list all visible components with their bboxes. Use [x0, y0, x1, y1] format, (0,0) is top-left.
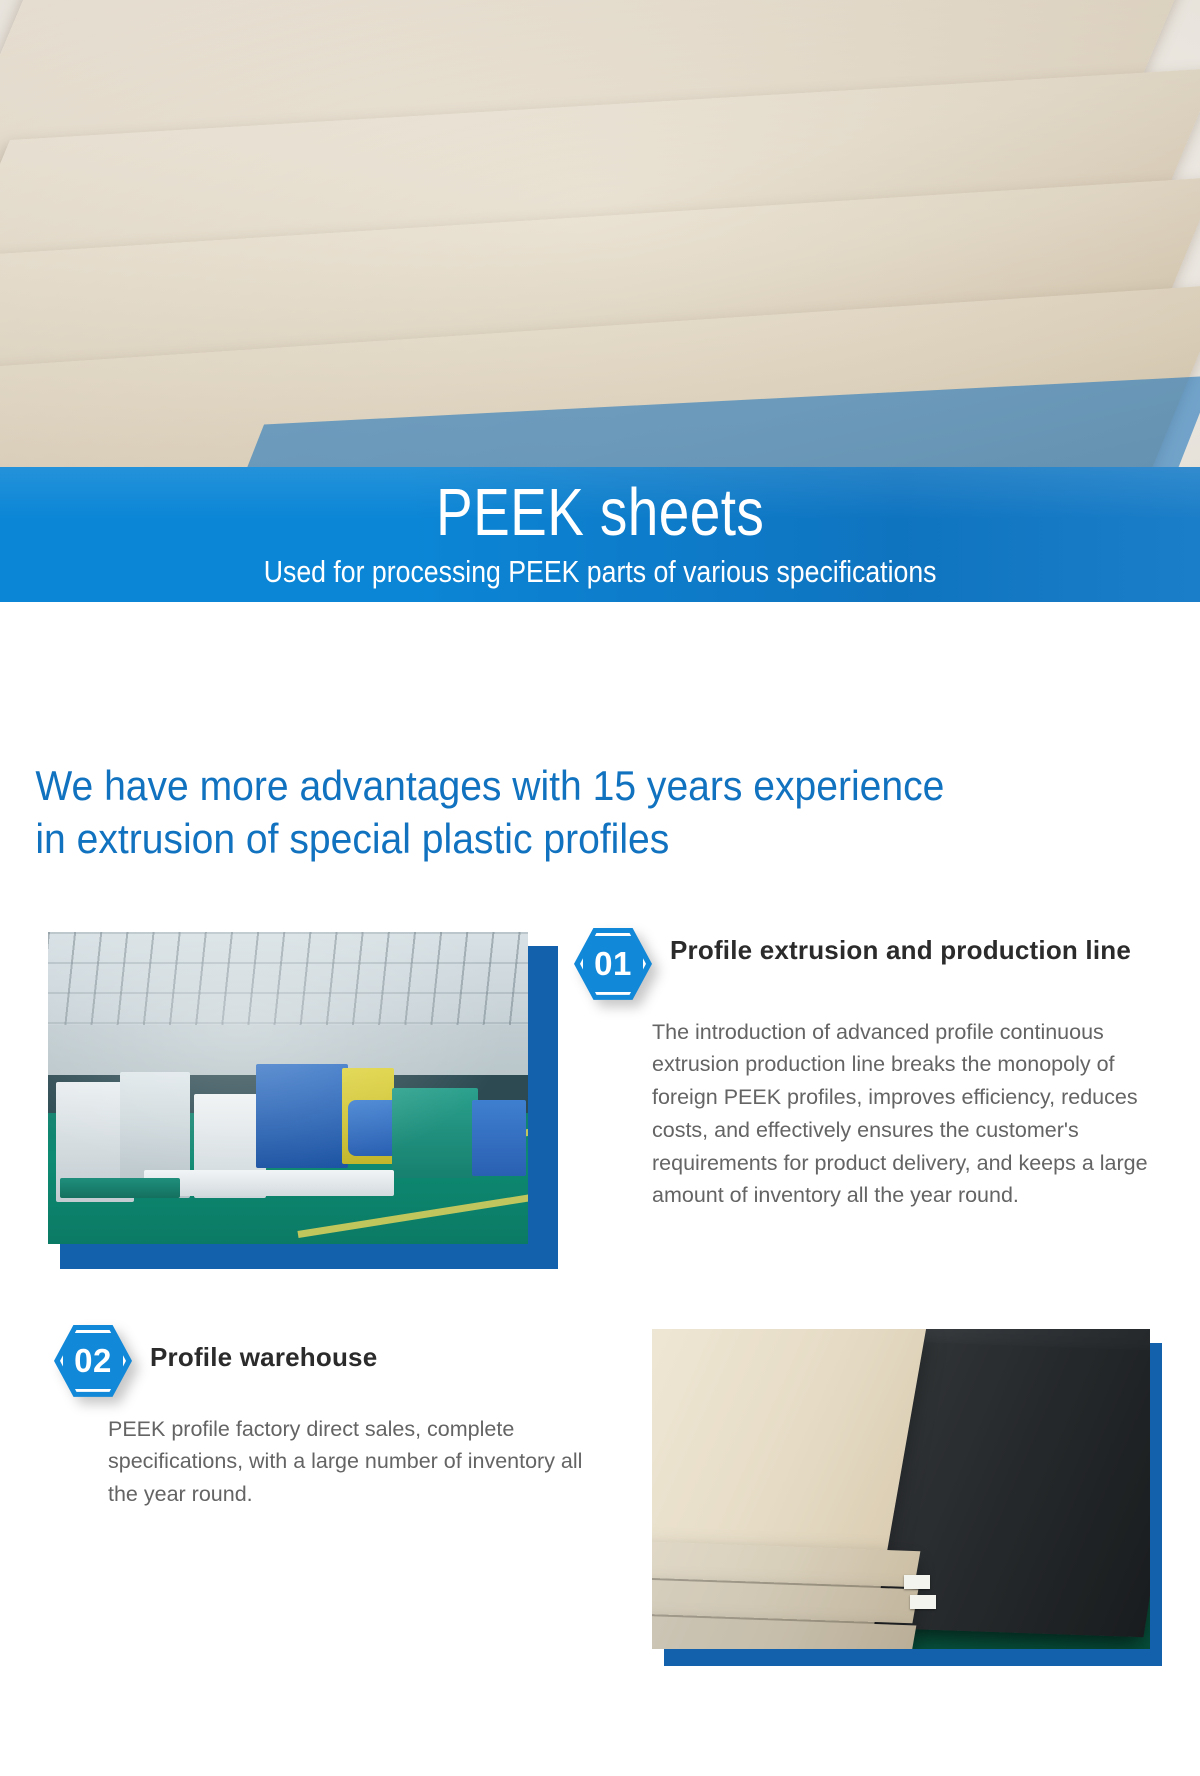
feature-02-body: PEEK profile factory direct sales, compl…	[38, 1413, 626, 1511]
feature-02-number: 02	[54, 1325, 132, 1397]
feature-02-copy: 02 Profile warehouse PEEK profile factor…	[38, 1321, 642, 1666]
hero-banner: PEEK sheets Used for processing PEEK par…	[0, 0, 1200, 668]
hero-bottom-spacer	[0, 602, 1200, 668]
hex-badge-icon: 01	[574, 928, 652, 1000]
page-headline: We have more advantages with 15 years ex…	[0, 668, 1116, 866]
page-bottom-spacer	[0, 1666, 1200, 1706]
feature-01-copy: 01 Profile extrusion and production line…	[558, 924, 1162, 1269]
hero-text-block: PEEK sheets Used for processing PEEK par…	[0, 467, 1200, 602]
product-detail-page: PEEK sheets Used for processing PEEK par…	[0, 0, 1200, 1706]
factory-photo	[48, 932, 528, 1244]
sheets-photo	[652, 1329, 1150, 1649]
hero-title: PEEK sheets	[436, 479, 764, 547]
feature-01-heading-row: 01 Profile extrusion and production line	[574, 928, 1162, 1000]
feature-01-title: Profile extrusion and production line	[670, 928, 1131, 968]
feature-01-media	[38, 924, 558, 1269]
feature-block-02: 02 Profile warehouse PEEK profile factor…	[0, 1321, 1200, 1666]
feature-01-number: 01	[574, 928, 652, 1000]
feature-block-01: 01 Profile extrusion and production line…	[0, 924, 1200, 1269]
feature-02-heading-row: 02 Profile warehouse	[38, 1325, 626, 1397]
feature-02-title: Profile warehouse	[150, 1325, 377, 1375]
feature-01-body: The introduction of advanced profile con…	[574, 1016, 1162, 1212]
hero-subtitle: Used for processing PEEK parts of variou…	[264, 554, 937, 590]
feature-01-photo-frame	[38, 924, 558, 1269]
feature-02-media	[642, 1321, 1162, 1666]
hex-badge-icon: 02	[54, 1325, 132, 1397]
feature-02-photo-frame	[642, 1321, 1162, 1666]
